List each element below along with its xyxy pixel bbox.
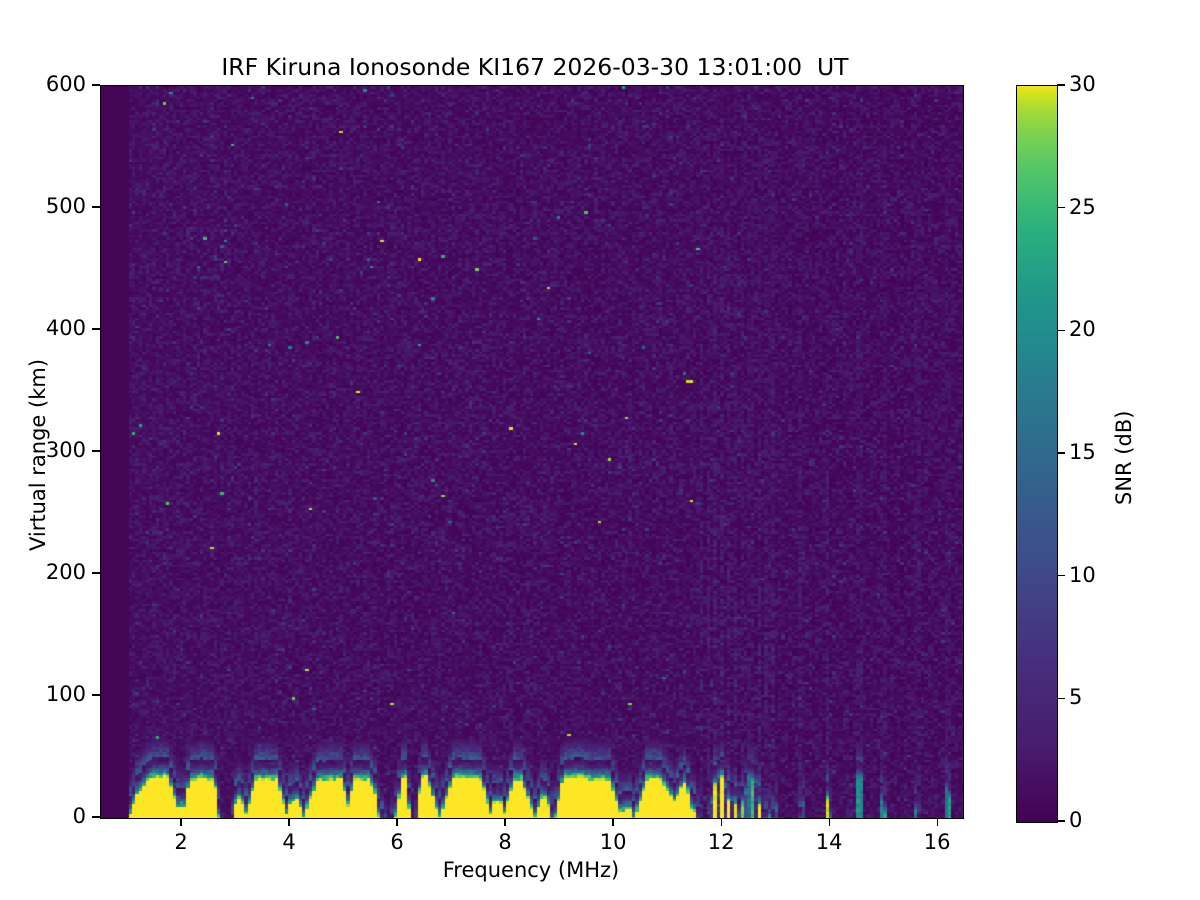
y-axis-tick [92,694,100,695]
colorbar-tick [1057,452,1065,453]
colorbar-tick [1057,330,1065,331]
x-axis-tick [396,818,397,826]
x-axis-tick-label: 8 [465,832,545,853]
x-axis-tick-label: 14 [789,832,869,853]
x-axis-tick [180,818,181,826]
x-axis-tick [721,818,722,826]
colorbar-tick [1057,207,1065,208]
colorbar-tick-label: 20 [1069,319,1096,340]
y-axis-tick [92,206,100,207]
y-axis-title: Virtual range (km) [26,359,50,551]
y-axis-tick [92,450,100,451]
y-axis-tick-label: 500 [0,196,86,217]
x-axis-tick [937,818,938,826]
colorbar-tick-label: 10 [1069,565,1096,586]
figure-title-line1: IRF Kiruna Ionosonde KI167 2026-03-30 13… [221,53,848,81]
colorbar [1016,85,1058,823]
x-axis-tick [612,818,613,826]
ionogram-axes [100,85,964,819]
x-axis-tick [288,818,289,826]
y-axis-tick-label: 100 [0,684,86,705]
ionogram-heatmap [101,86,963,818]
x-axis-tick-label: 12 [681,832,761,853]
colorbar-title: SNR (dB) [1112,411,1136,505]
colorbar-tick-label: 15 [1069,442,1096,463]
colorbar-tick [1057,84,1065,85]
colorbar-tick-label: 0 [1069,810,1082,831]
colorbar-tick [1057,820,1065,821]
x-axis-tick-label: 6 [357,832,437,853]
y-axis-tick-label: 0 [0,806,86,827]
y-axis-tick [92,84,100,85]
x-axis-title: Frequency (MHz) [100,858,962,882]
y-axis-tick-label: 600 [0,74,86,95]
x-axis-tick-label: 10 [573,832,653,853]
colorbar-tick-label: 25 [1069,197,1096,218]
y-axis-tick-label: 400 [0,318,86,339]
x-axis-tick [829,818,830,826]
x-axis-tick [504,818,505,826]
x-axis-tick-label: 2 [141,832,221,853]
colorbar-tick-label: 30 [1069,74,1096,95]
y-axis-tick-label: 200 [0,562,86,583]
x-axis-tick-label: 4 [249,832,329,853]
y-axis-tick [92,572,100,573]
y-axis-tick [92,328,100,329]
colorbar-tick-label: 5 [1069,687,1082,708]
ionogram-figure: IRF Kiruna Ionosonde KI167 2026-03-30 13… [0,0,1200,900]
y-axis-tick [92,816,100,817]
x-axis-tick-label: 16 [897,832,977,853]
colorbar-tick [1057,575,1065,576]
colorbar-tick [1057,698,1065,699]
